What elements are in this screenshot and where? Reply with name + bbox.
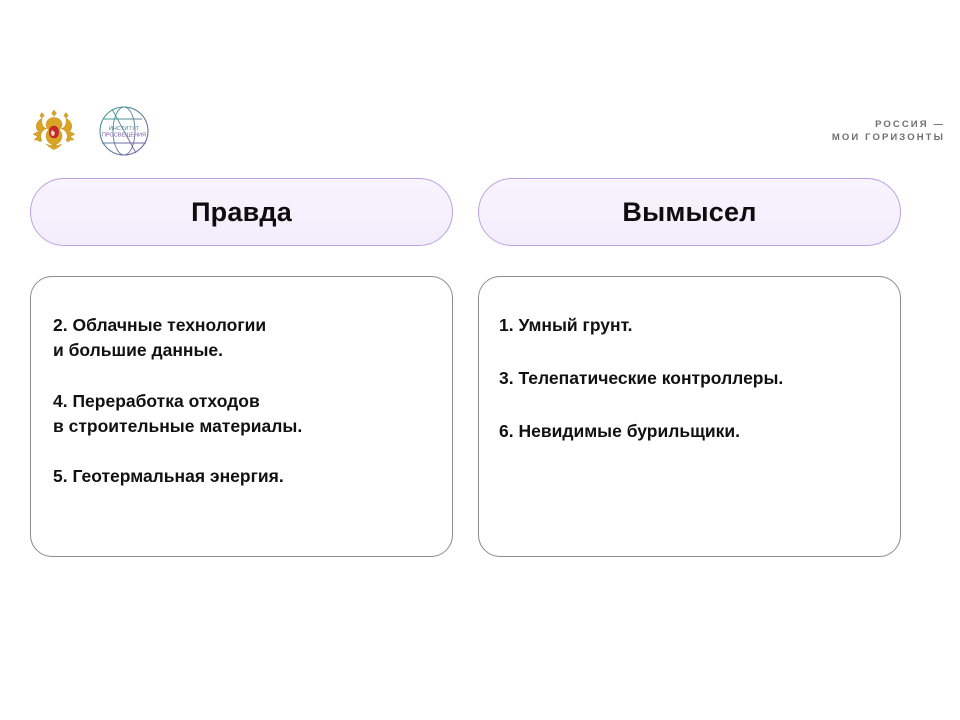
column-header-pravda: Правда [30, 178, 453, 246]
card-pravda: 2. Облачные технологии и большие данные.… [30, 276, 453, 557]
russian-coat-of-arms-icon [28, 104, 80, 158]
institute-logo-text-line1: ИНСТИТУТ [109, 126, 140, 132]
list-item: 5. Геотермальная энергия. [53, 464, 430, 489]
brand-line-1: РОССИЯ — [832, 118, 945, 131]
list-item: 2. Облачные технологии и большие данные. [53, 313, 430, 363]
column-header-vymysel: Вымысел [478, 178, 901, 246]
column-vymysel: Вымысел 1. Умный грунт. 3. Телепатически… [478, 178, 901, 557]
columns-container: Правда 2. Облачные технологии и большие … [30, 178, 910, 557]
institute-logo-text-line2: ПРОСВЕЩЕНИЯ [102, 133, 146, 139]
list-item: 3. Телепатические контроллеры. [499, 366, 878, 391]
column-pravda: Правда 2. Облачные технологии и большие … [30, 178, 453, 557]
list-pravda: 2. Облачные технологии и большие данные.… [53, 313, 430, 489]
column-title-pravda: Правда [191, 199, 292, 226]
brand-wordmark: РОССИЯ — МОИ ГОРИЗОНТЫ [832, 118, 945, 145]
card-vymysel: 1. Умный грунт. 3. Телепатические контро… [478, 276, 901, 557]
column-title-vymysel: Вымысел [622, 199, 756, 226]
list-vymysel: 1. Умный грунт. 3. Телепатические контро… [499, 313, 878, 444]
list-item: 1. Умный грунт. [499, 313, 878, 338]
header-logos: ИНСТИТУТ ПРОСВЕЩЕНИЯ [28, 104, 150, 158]
list-item: 6. Невидимые бурильщики. [499, 419, 878, 444]
brand-line-2: МОИ ГОРИЗОНТЫ [832, 131, 945, 144]
slide-root: ИНСТИТУТ ПРОСВЕЩЕНИЯ РОССИЯ — МОИ ГОРИЗО… [0, 0, 960, 720]
list-item: 4. Переработка отходов в строительные ма… [53, 389, 430, 439]
institute-globe-logo-icon: ИНСТИТУТ ПРОСВЕЩЕНИЯ [98, 105, 150, 157]
